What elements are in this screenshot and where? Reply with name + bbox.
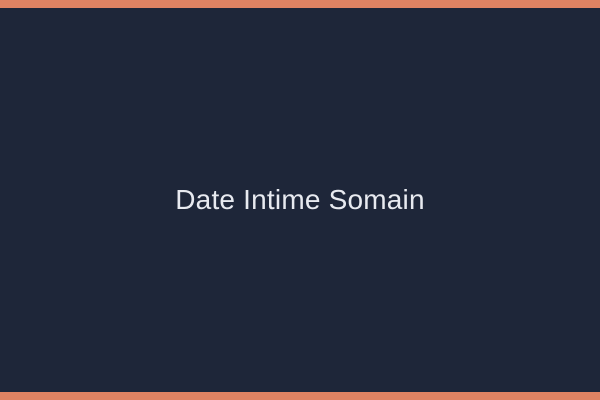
bottom-accent-bar <box>0 392 600 400</box>
placeholder-banner: Date Intime Somain <box>0 0 600 400</box>
top-accent-bar <box>0 0 600 8</box>
placeholder-title: Date Intime Somain <box>175 186 425 214</box>
